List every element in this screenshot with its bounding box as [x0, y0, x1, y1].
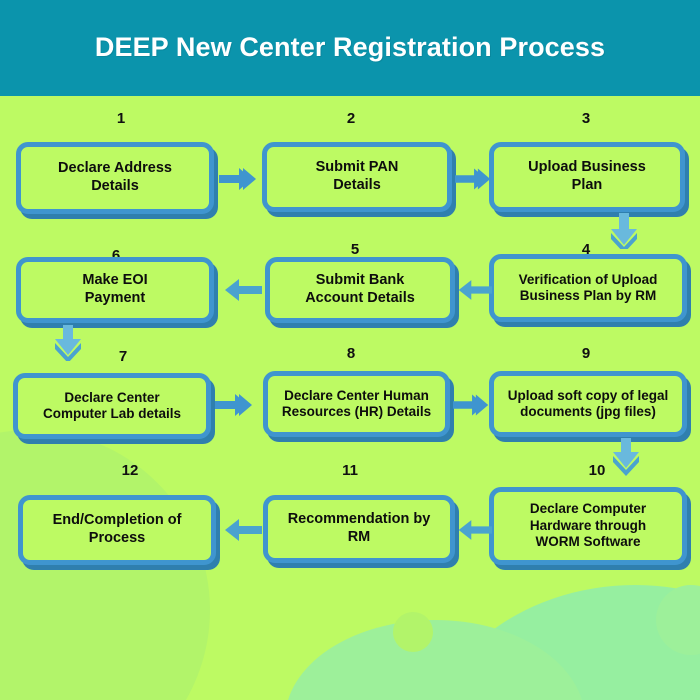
background-blob-bottom-right: [420, 585, 700, 700]
header-banner: DEEP New Center Registration Process: [0, 0, 700, 96]
node-line-1: Upload Business: [528, 159, 646, 175]
step-number-3: 3: [566, 110, 606, 127]
node-line-2: Details: [333, 177, 381, 193]
node-submit-bank-account-details[interactable]: Submit Bank Account Details: [265, 257, 455, 323]
node-submit-pan-details[interactable]: Submit PAN Details: [262, 142, 452, 212]
node-label: Upload Business Plan: [528, 159, 646, 194]
node-label: Declare Address Details: [58, 160, 172, 195]
node-line-1: Declare Computer: [530, 501, 646, 516]
node-line-1: Make EOI: [82, 272, 147, 288]
node-label: Declare Center Human Resources (HR) Deta…: [282, 388, 431, 421]
node-line-2: Account Details: [305, 290, 415, 306]
node-make-eoi-payment[interactable]: Make EOI Payment: [16, 257, 214, 323]
node-end-completion-of-process[interactable]: End/Completion of Process: [18, 495, 216, 565]
page-title: DEEP New Center Registration Process: [70, 32, 630, 63]
arrow-right-7-to-8-icon: [215, 392, 257, 418]
node-label: Upload soft copy of legal documents (jpg…: [508, 388, 669, 421]
node-label: Declare Center Computer Lab details: [43, 390, 181, 423]
node-line-1: Upload soft copy of legal: [508, 388, 669, 403]
arrow-right-1-to-2-icon: [219, 166, 261, 192]
step-number-12: 12: [110, 462, 150, 479]
node-line-1: Submit PAN: [316, 159, 399, 175]
node-line-3: WORM Software: [535, 534, 640, 549]
node-line-2: Resources (HR) Details: [282, 404, 431, 419]
node-line-2: Process: [89, 530, 145, 546]
background-blob-bottom-center: [285, 620, 585, 700]
node-line-2: Details: [91, 178, 139, 194]
node-recommendation-by-rm[interactable]: Recommendation by RM: [263, 495, 455, 563]
node-declare-computer-hardware-worm[interactable]: Declare Computer Hardware through WORM S…: [489, 487, 687, 565]
node-line-1: Declare Address: [58, 160, 172, 176]
node-upload-business-plan[interactable]: Upload Business Plan: [489, 142, 685, 212]
step-number-2: 2: [331, 110, 371, 127]
node-line-2: RM: [348, 529, 371, 545]
flowchart-canvas: DEEP New Center Registration Process 1 D…: [0, 0, 700, 700]
node-line-1: Verification of Upload: [519, 272, 658, 287]
node-upload-soft-copy-legal-documents[interactable]: Upload soft copy of legal documents (jpg…: [489, 371, 687, 437]
node-declare-address-details[interactable]: Declare Address Details: [16, 142, 214, 214]
node-label: End/Completion of Process: [53, 512, 182, 547]
background-blob-right-edge: [656, 585, 700, 655]
arrow-down-6-to-7-icon: [53, 325, 83, 361]
node-line-1: Recommendation by: [288, 511, 431, 527]
node-line-2: documents (jpg files): [520, 404, 656, 419]
step-number-9: 9: [566, 345, 606, 362]
arrow-right-8-to-9-icon: [453, 392, 493, 418]
step-number-8: 8: [331, 345, 371, 362]
node-line-2: Payment: [85, 290, 145, 306]
arrow-left-10-to-11-icon: [456, 517, 492, 543]
node-verification-of-upload-business-plan-by-rm[interactable]: Verification of Upload Business Plan by …: [489, 254, 687, 322]
node-line-2: Plan: [572, 177, 603, 193]
arrow-left-5-to-6-icon: [222, 277, 262, 303]
arrow-down-3-to-4-icon: [609, 213, 639, 249]
node-label: Submit PAN Details: [316, 159, 399, 194]
step-number-11: 11: [330, 462, 370, 479]
node-line-1: Submit Bank: [316, 272, 405, 288]
node-label: Recommendation by RM: [288, 511, 431, 546]
node-line-1: Declare Center Human: [284, 388, 429, 403]
node-label: Submit Bank Account Details: [305, 272, 415, 307]
node-line-1: End/Completion of: [53, 512, 182, 528]
background-dot-small: [393, 612, 433, 652]
background-blob-bottom-left: [0, 430, 210, 700]
node-label: Make EOI Payment: [82, 272, 147, 307]
step-number-1: 1: [101, 110, 141, 127]
arrow-left-11-to-12-icon: [222, 517, 262, 543]
node-line-2: Computer Lab details: [43, 406, 181, 421]
node-label: Verification of Upload Business Plan by …: [519, 272, 658, 305]
node-declare-center-computer-lab-details[interactable]: Declare Center Computer Lab details: [13, 373, 211, 439]
node-line-2: Business Plan by RM: [520, 288, 657, 303]
arrow-left-4-to-5-icon: [456, 277, 492, 303]
node-line-2: Hardware through: [530, 518, 646, 533]
step-number-10: 10: [577, 462, 617, 479]
node-label: Declare Computer Hardware through WORM S…: [530, 501, 646, 550]
node-declare-center-human-resources-details[interactable]: Declare Center Human Resources (HR) Deta…: [263, 371, 450, 437]
step-number-5: 5: [335, 241, 375, 258]
node-line-1: Declare Center: [64, 390, 159, 405]
step-number-7: 7: [103, 348, 143, 365]
